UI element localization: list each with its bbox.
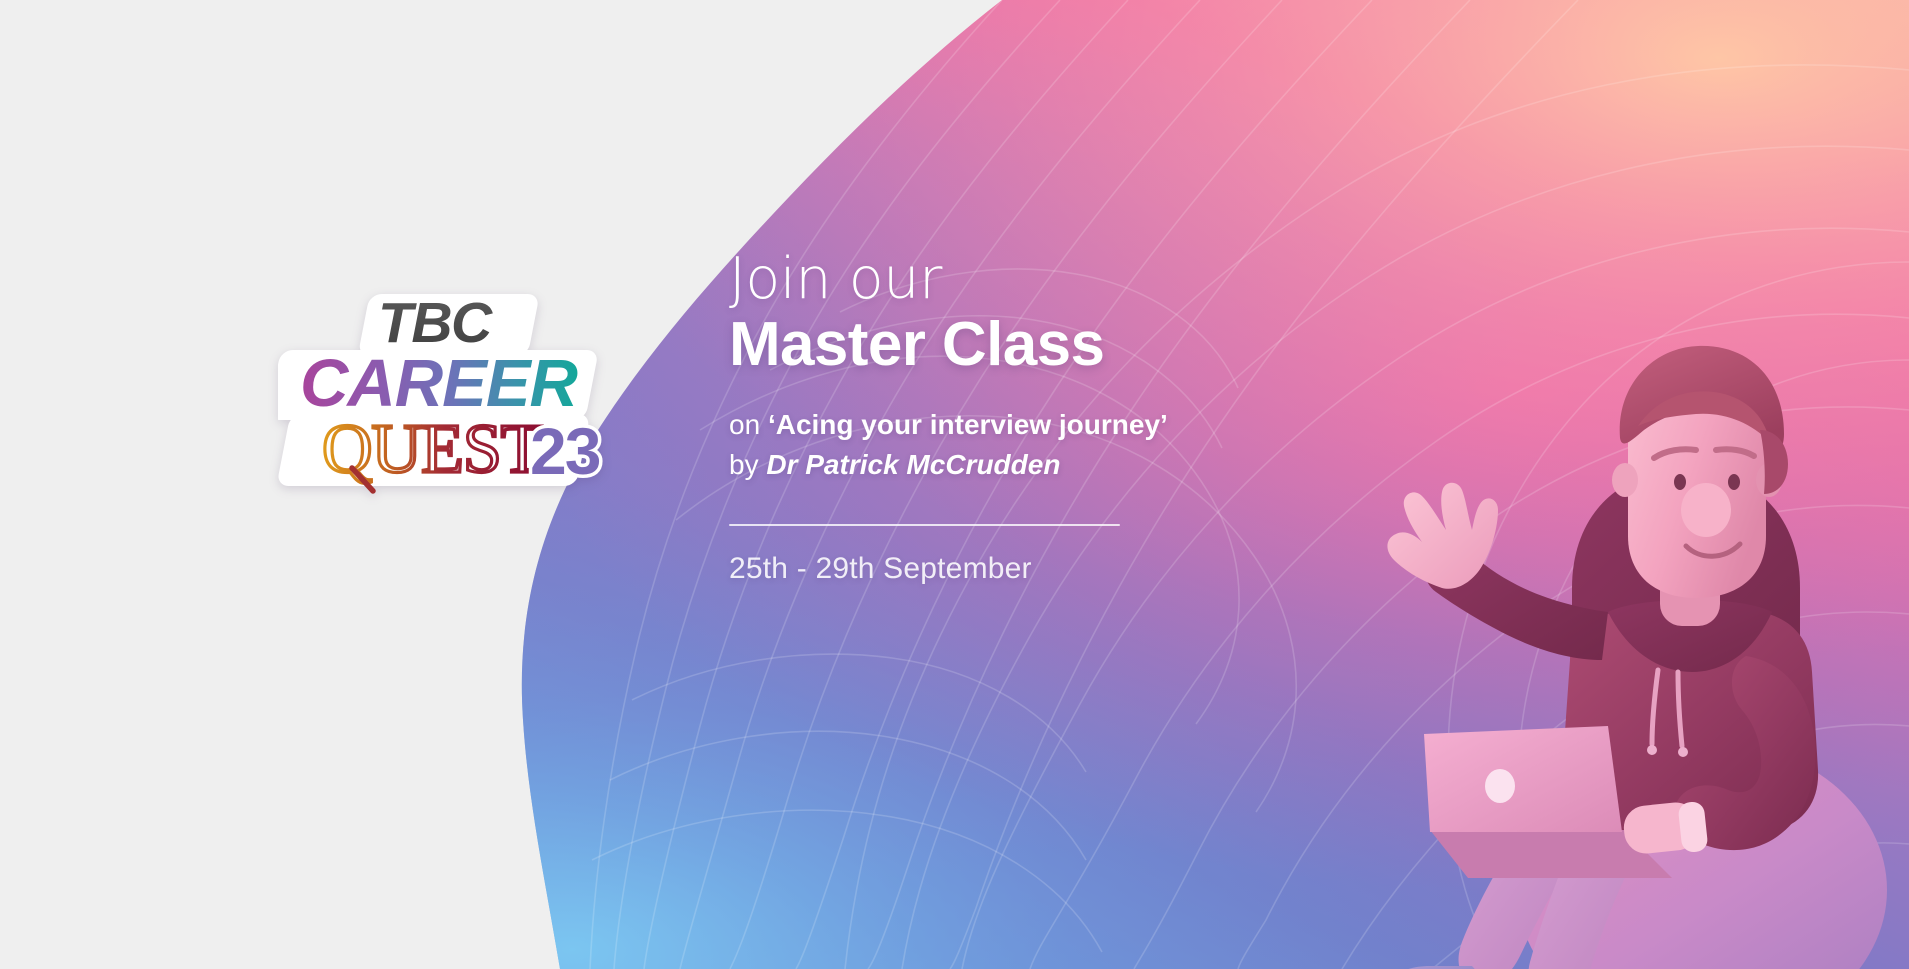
- ear-left: [1612, 463, 1638, 497]
- speaker-name: Dr Patrick McCrudden: [766, 449, 1060, 480]
- promo-banner: TBC CAREER QUEST 23 Join our Master Clas…: [0, 0, 1909, 969]
- drawstring-tip-right: [1678, 747, 1688, 757]
- topic-title: ‘Acing your interview journey’: [768, 409, 1168, 440]
- eyebrow-text: Join our: [729, 250, 1289, 308]
- page-title: Master Class: [729, 312, 1289, 379]
- nose: [1681, 483, 1731, 537]
- copy-block: Join our Master Class on ‘Acing your int…: [729, 250, 1289, 586]
- topic-prefix: on: [729, 409, 768, 440]
- character-illustration: [1272, 330, 1909, 969]
- laptop-screen: [1424, 726, 1622, 832]
- logo-svg: TBC CAREER QUEST 23: [278, 272, 646, 522]
- eye-left: [1674, 474, 1686, 490]
- character-svg: [1272, 330, 1909, 969]
- logo-text-year: 23: [530, 414, 600, 488]
- tbc-career-quest-logo: TBC CAREER QUEST 23: [278, 272, 646, 522]
- drawstring-tip-left: [1647, 745, 1657, 755]
- laptop-logo: [1485, 769, 1515, 803]
- byline-prefix: by: [729, 449, 766, 480]
- eye-right: [1728, 474, 1740, 490]
- byline-line: by Dr Patrick McCrudden: [729, 445, 1289, 485]
- topic-line: on ‘Acing your interview journey’: [729, 405, 1289, 445]
- logo-text-career: CAREER: [300, 346, 578, 421]
- logo-text-quest: QUEST: [322, 411, 543, 488]
- event-dates: 25th - 29th September: [729, 552, 1289, 586]
- divider: [729, 524, 1120, 526]
